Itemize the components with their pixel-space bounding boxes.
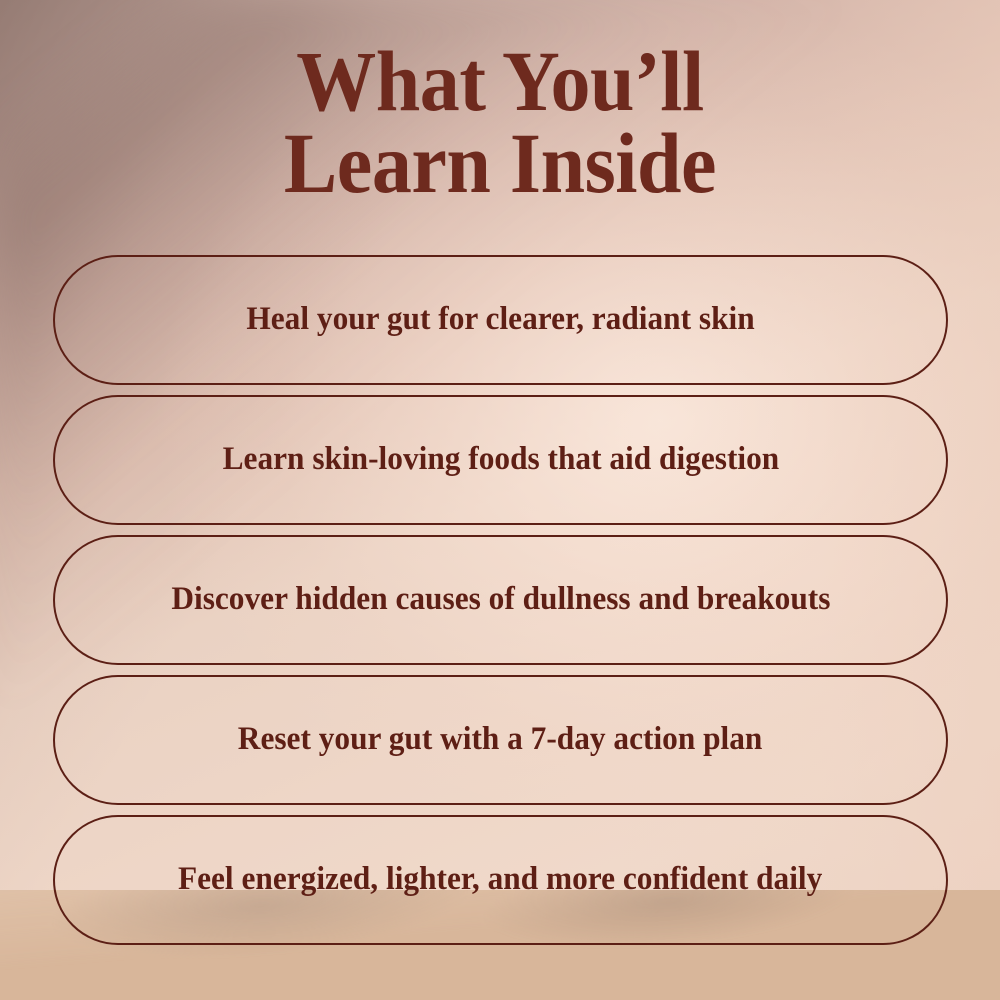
list-item-label: Discover hidden causes of dullness and b… — [171, 581, 830, 619]
list-item-label: Reset your gut with a 7-day action plan — [238, 721, 763, 759]
list-item[interactable]: Learn skin-loving foods that aid digesti… — [53, 395, 948, 525]
list-item-label: Heal your gut for clearer, radiant skin — [246, 301, 754, 339]
list-item[interactable]: Heal your gut for clearer, radiant skin — [53, 255, 948, 385]
list-item[interactable]: Reset your gut with a 7-day action plan — [53, 675, 948, 805]
page-title-line-1: What You’ll — [35, 44, 965, 120]
list-item-label: Feel energized, lighter, and more confid… — [178, 861, 822, 899]
benefit-list: Heal your gut for clearer, radiant skin … — [53, 255, 948, 945]
page-title-line-2: Learn Inside — [35, 126, 965, 202]
list-item[interactable]: Feel energized, lighter, and more confid… — [53, 815, 948, 945]
page-title: What You’ll Learn Inside — [0, 44, 1000, 201]
list-item-label: Learn skin-loving foods that aid digesti… — [222, 441, 779, 479]
poster-canvas: What You’ll Learn Inside Heal your gut f… — [0, 0, 1000, 1000]
list-item[interactable]: Discover hidden causes of dullness and b… — [53, 535, 948, 665]
